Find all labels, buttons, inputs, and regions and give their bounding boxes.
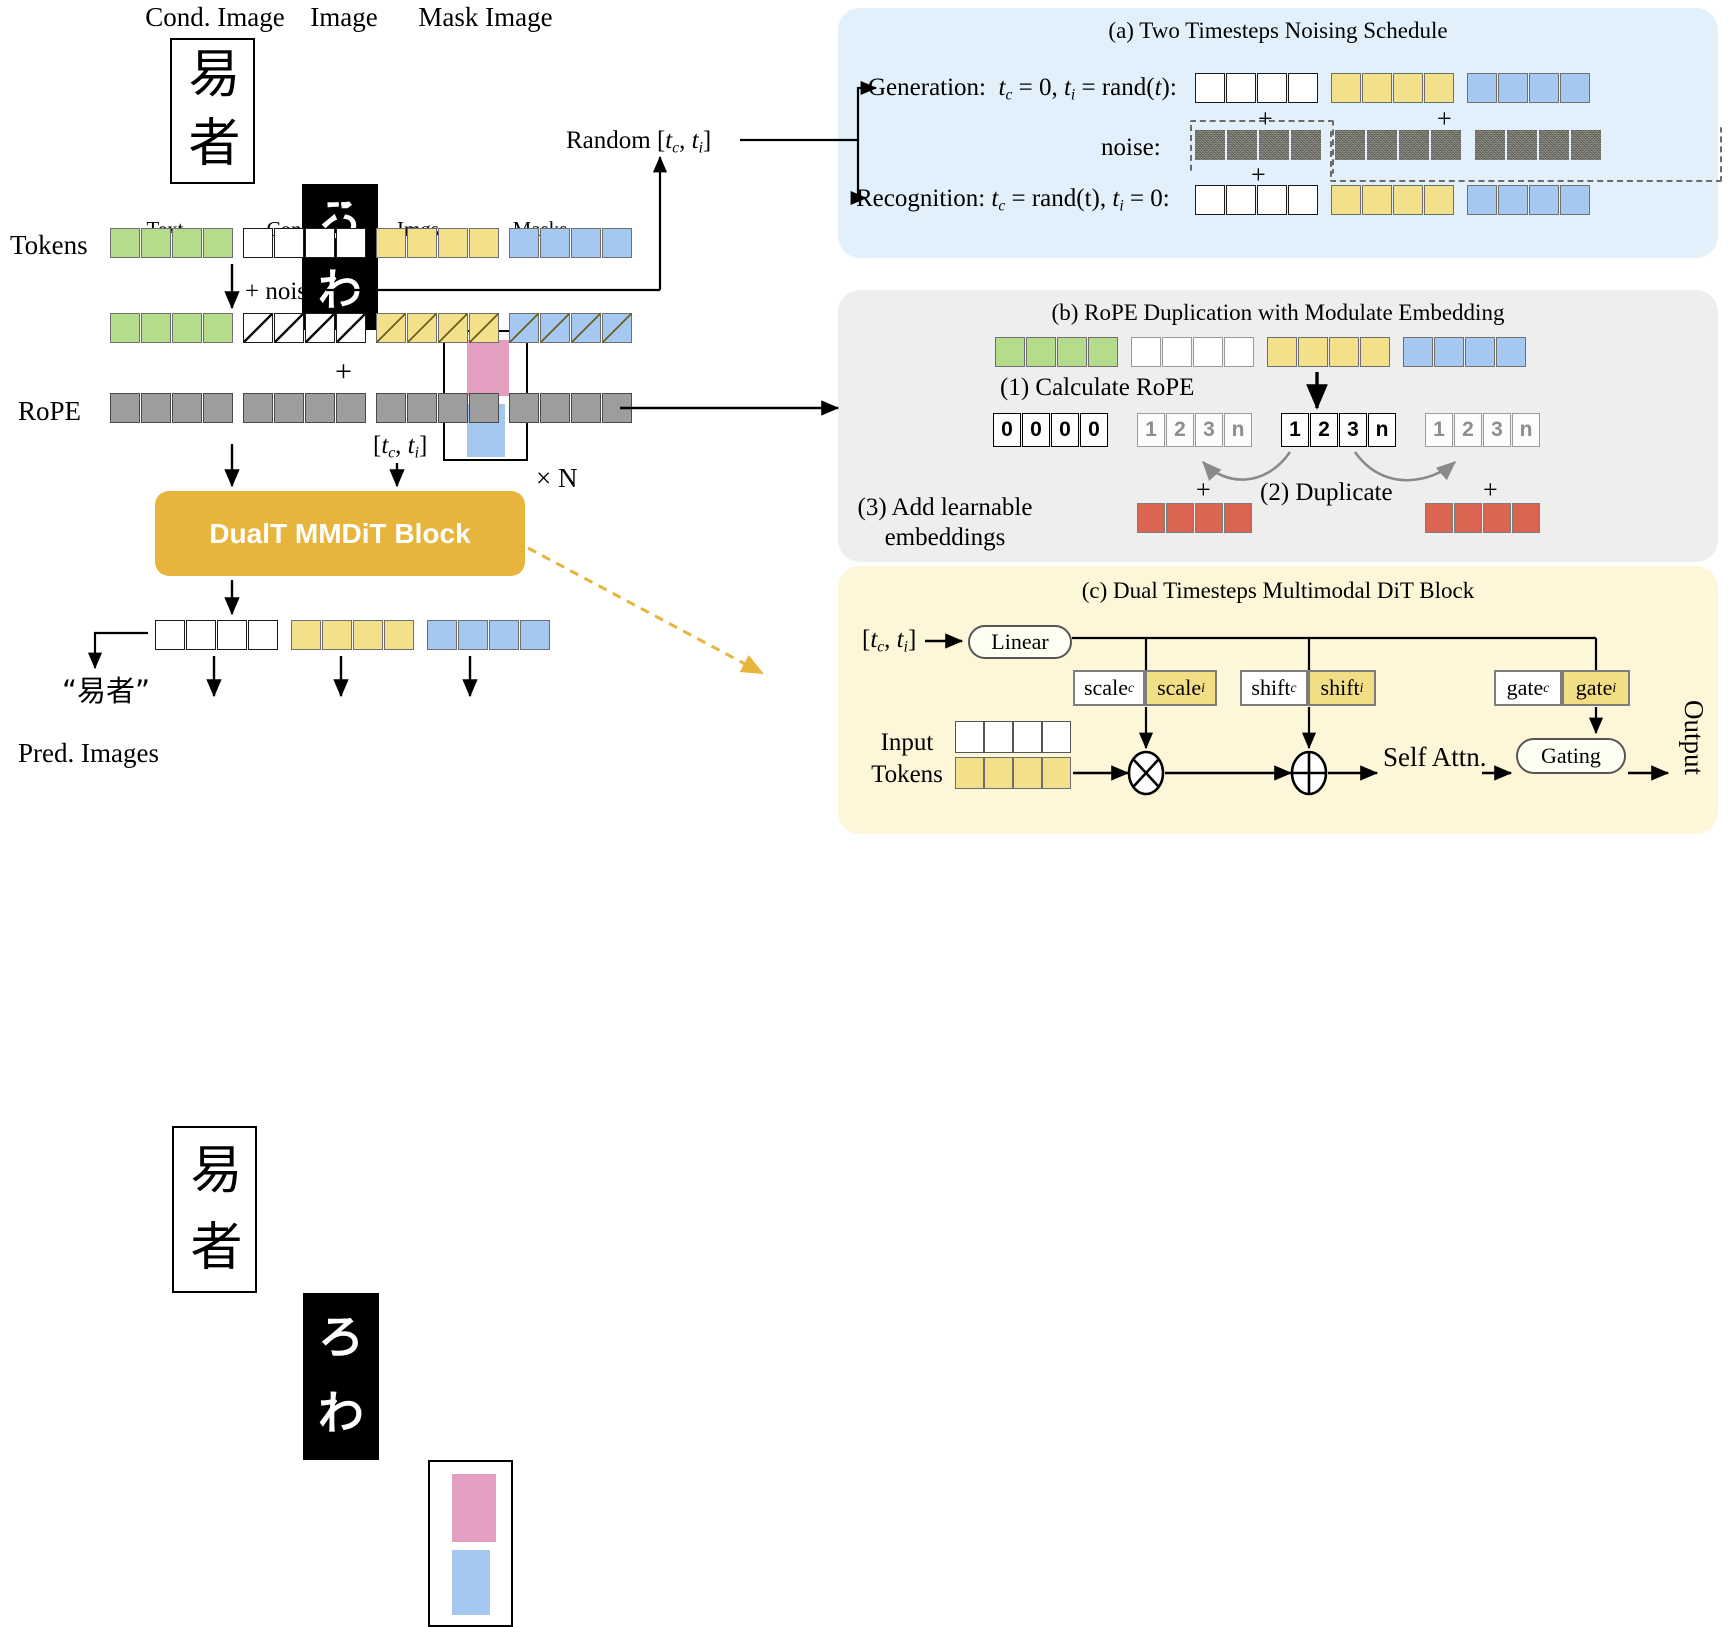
token-cell-img	[469, 228, 499, 258]
pred-mask-image	[428, 1460, 513, 1627]
modbox-scale-c: scalec	[1073, 670, 1145, 706]
arrow-output-to-text	[95, 633, 148, 668]
modbox-gate-c-sub: c	[1543, 680, 1549, 696]
noise-add-label: + noise	[245, 278, 318, 306]
input-token-cell-cond	[984, 721, 1013, 753]
token-cell-img	[1424, 73, 1454, 103]
panel-c-input-tokens-img	[955, 757, 1071, 789]
panel-a-generation-tokens	[1195, 73, 1591, 103]
rope-cell	[376, 393, 406, 423]
rope-index-cell: n	[1512, 413, 1540, 447]
plus-sign-rope: +	[335, 355, 352, 389]
learnable-embedding-cell	[1195, 503, 1223, 533]
noised-token-cell-img	[469, 313, 499, 343]
rope-index-cell: 0	[1051, 413, 1079, 447]
rope-cell	[336, 393, 366, 423]
token-cell-text	[203, 228, 233, 258]
output-token-cell-cond	[217, 620, 247, 650]
panel-b-step2-label: (2) Duplicate	[1260, 479, 1393, 507]
noised-token-cell-mask	[509, 313, 539, 343]
panel-b-rope-group-mask: 1 2 3 n	[1425, 413, 1541, 447]
noised-tokens-row	[110, 313, 633, 343]
panel-b-plus-cond: +	[1196, 475, 1211, 505]
self-attn-label: Self Attn.	[1383, 742, 1487, 773]
token-cell-mask	[1498, 73, 1528, 103]
modbox-shift-c: shiftc	[1240, 670, 1308, 706]
panel-b-rope-group-text: 0 0 0 0	[993, 413, 1109, 447]
repeat-count-label: × N	[536, 463, 577, 494]
modbox-shift-c-label: shift	[1251, 675, 1290, 701]
panel-c-title: (c) Dual Timesteps Multimodal DiT Block	[838, 578, 1718, 604]
output-token-cell-mask	[458, 620, 488, 650]
pred-cond-char-1: 易	[174, 1136, 257, 1206]
panel-a-title: (a) Two Timesteps Noising Schedule	[838, 18, 1718, 44]
token-cell-mask	[1529, 185, 1559, 215]
rope-index-cell: 3	[1483, 413, 1511, 447]
cond-image-char-2: 者	[172, 112, 255, 176]
output-token-cell-img	[384, 620, 414, 650]
output-token-cell-mask	[520, 620, 550, 650]
panel-b-rope-group-img: 1 2 3 n	[1281, 413, 1397, 447]
token-cell-mask	[1560, 73, 1590, 103]
noised-token-cell-img	[407, 313, 437, 343]
panel-a-noise-label: noise:	[1101, 134, 1161, 162]
noised-token-cell-text	[141, 313, 171, 343]
pred-image: ろわ	[303, 1293, 379, 1460]
caption-mask-image: Mask Image	[378, 2, 593, 33]
tokens-row	[110, 228, 633, 258]
rope-cell	[438, 393, 468, 423]
modbox-shift-i-sub: i	[1360, 680, 1364, 696]
panel-b-step3-line2: embeddings	[885, 524, 1006, 551]
token-cell-cond	[243, 228, 273, 258]
noised-token-cell-mask	[602, 313, 632, 343]
token-cell-text	[1057, 337, 1087, 367]
learnable-embedding-cell	[1483, 503, 1511, 533]
rope-cell	[141, 393, 171, 423]
pred-mask-region-blue	[452, 1550, 490, 1615]
panel-b-step3-line1: (3) Add learnable	[858, 494, 1033, 521]
rope-cell	[509, 393, 539, 423]
noised-token-cell-text	[172, 313, 202, 343]
panel-a-generation-label: Generation: tc = 0, ti = rand(t):	[868, 74, 1177, 104]
pred-cond-image: 易 者	[172, 1126, 257, 1293]
rope-cell	[407, 393, 437, 423]
rope-index-cell: 1	[1425, 413, 1453, 447]
rope-index-cell: 0	[1080, 413, 1108, 447]
rope-index-cell: n	[1224, 413, 1252, 447]
token-cell-img	[1267, 337, 1297, 367]
token-cell-cond	[1257, 73, 1287, 103]
token-cell-img	[438, 228, 468, 258]
rope-index-cell: 3	[1339, 413, 1367, 447]
token-cell-mask	[1498, 185, 1528, 215]
noised-token-cell-img	[376, 313, 406, 343]
token-cell-mask	[1434, 337, 1464, 367]
token-cell-cond	[305, 228, 335, 258]
panel-b-step1-label: (1) Calculate RoPE	[1000, 374, 1194, 402]
rope-index-cell: 2	[1454, 413, 1482, 447]
input-token-cell-img	[955, 757, 984, 789]
modbox-gate-i: gatei	[1562, 670, 1630, 706]
token-cell-mask	[540, 228, 570, 258]
token-cell-img	[1362, 185, 1392, 215]
panel-c-input-tokens-cond	[955, 721, 1071, 753]
token-cell-img	[376, 228, 406, 258]
noised-token-cell-text	[203, 313, 233, 343]
output-token-cell-mask	[427, 620, 457, 650]
panel-a-recognition-label: Recognition: tc = rand(t), ti = 0:	[856, 185, 1170, 215]
modbox-scale-i-sub: i	[1201, 680, 1205, 696]
rope-cell	[110, 393, 140, 423]
timestep-input-label: [tc, ti]	[373, 432, 427, 462]
panel-b-title: (b) RoPE Duplication with Modulate Embed…	[838, 300, 1718, 326]
panel-c-input-tokens-label: Input Tokens	[862, 727, 952, 791]
noised-token-cell-text	[110, 313, 140, 343]
panel-c-input-label-line1: Input	[881, 729, 934, 756]
modbox-scale-c-sub: c	[1128, 680, 1134, 696]
rope-index-cell: 1	[1137, 413, 1165, 447]
rope-index-cell: 0	[1022, 413, 1050, 447]
token-cell-cond	[1131, 337, 1161, 367]
panel-a-recognition-tokens	[1195, 185, 1591, 215]
token-cell-img	[1329, 337, 1359, 367]
output-token-cell-img	[353, 620, 383, 650]
rope-row-label: RoPE	[18, 396, 81, 427]
panel-c-timestep-input-label: [tc, ti]	[862, 626, 916, 656]
input-token-cell-cond	[1042, 721, 1071, 753]
modbox-gate-c-label: gate	[1507, 675, 1544, 701]
rope-cell	[274, 393, 304, 423]
token-cell-img	[1331, 73, 1361, 103]
noised-token-cell-mask	[571, 313, 601, 343]
token-cell-img	[1393, 185, 1423, 215]
token-cell-cond	[1257, 185, 1287, 215]
rope-cell	[540, 393, 570, 423]
mask-region-pink	[467, 340, 509, 396]
rope-cell	[203, 393, 233, 423]
token-cell-text	[1088, 337, 1118, 367]
rope-cell	[469, 393, 499, 423]
random-timesteps-label: Random [tc, ti]	[566, 127, 711, 157]
output-token-cell-img	[322, 620, 352, 650]
rope-cell	[571, 393, 601, 423]
token-cell-text	[141, 228, 171, 258]
token-cell-text	[1026, 337, 1056, 367]
token-cell-text	[110, 228, 140, 258]
output-token-cell-cond	[248, 620, 278, 650]
panel-c-input-label-line2: Tokens	[871, 761, 943, 788]
token-cell-cond	[1193, 337, 1223, 367]
rope-index-cell: 3	[1195, 413, 1223, 447]
input-token-cell-img	[984, 757, 1013, 789]
noised-token-cell-cond	[274, 313, 304, 343]
token-cell-mask	[1529, 73, 1559, 103]
output-tokens-row	[155, 620, 551, 650]
token-cell-img	[1424, 185, 1454, 215]
rope-cell	[602, 393, 632, 423]
input-token-cell-img	[1013, 757, 1042, 789]
modbox-scale-i-label: scale	[1157, 675, 1201, 701]
linear-layer-node[interactable]: Linear	[968, 625, 1072, 659]
pred-mask-region-pink	[452, 1474, 496, 1542]
rope-index-cell: n	[1368, 413, 1396, 447]
rope-cell	[305, 393, 335, 423]
token-cell-cond	[1162, 337, 1192, 367]
modbox-scale-c-label: scale	[1084, 675, 1128, 701]
token-cell-mask	[571, 228, 601, 258]
token-cell-mask	[1467, 185, 1497, 215]
rope-index-cell: 2	[1166, 413, 1194, 447]
rope-row	[110, 393, 633, 423]
learnable-embedding-cell	[1454, 503, 1482, 533]
modbox-shift-i: shifti	[1308, 670, 1376, 706]
cond-image-thumbnail: 易 者	[170, 38, 255, 184]
token-cell-img	[407, 228, 437, 258]
input-token-cell-cond	[955, 721, 984, 753]
token-cell-mask	[1560, 185, 1590, 215]
learnable-embedding-cell	[1512, 503, 1540, 533]
token-cell-img	[1362, 73, 1392, 103]
token-cell-text	[172, 228, 202, 258]
output-token-cell-cond	[155, 620, 185, 650]
input-token-cell-cond	[1013, 721, 1042, 753]
dashed-link-block-to-panel-c	[528, 548, 760, 672]
modbox-gate-c: gatec	[1494, 670, 1562, 706]
predicted-text-label: “易者”	[62, 668, 150, 710]
learnable-embedding-cell	[1425, 503, 1453, 533]
panel-b-rope-group-cond: 1 2 3 n	[1137, 413, 1253, 447]
token-cell-mask	[1465, 337, 1495, 367]
panel-a-plus-gen-mask: +	[1437, 104, 1452, 134]
token-cell-text	[995, 337, 1025, 367]
panel-b-learnable-emb-mask	[1425, 503, 1541, 533]
token-cell-img	[1331, 185, 1361, 215]
token-cell-mask	[509, 228, 539, 258]
token-cell-cond	[1226, 73, 1256, 103]
panel-c-output-label: Output	[1678, 700, 1709, 775]
panel-b-step3-label: (3) Add learnable embeddings	[855, 493, 1035, 553]
panel-a-noise-group-img-mask	[1330, 127, 1722, 182]
token-cell-mask	[602, 228, 632, 258]
learnable-embedding-cell	[1224, 503, 1252, 533]
token-cell-cond	[1224, 337, 1254, 367]
token-cell-cond	[1288, 73, 1318, 103]
noised-token-cell-img	[438, 313, 468, 343]
rope-index-cell: 1	[1281, 413, 1309, 447]
modbox-gate-i-label: gate	[1576, 675, 1613, 701]
token-cell-img	[1393, 73, 1423, 103]
token-cell-cond	[274, 228, 304, 258]
noised-token-cell-cond	[243, 313, 273, 343]
tokens-row-label: Tokens	[10, 230, 88, 261]
panel-a-plus-gen-img: +	[1258, 104, 1273, 134]
input-token-cell-img	[1042, 757, 1071, 789]
cond-image-char-1: 易	[172, 43, 255, 107]
token-cell-cond	[1226, 185, 1256, 215]
token-cell-mask	[1496, 337, 1526, 367]
rope-cell	[172, 393, 202, 423]
token-cell-cond	[336, 228, 366, 258]
modbox-shift-c-sub: c	[1291, 680, 1297, 696]
output-token-cell-cond	[186, 620, 216, 650]
learnable-embedding-cell	[1137, 503, 1165, 533]
dualt-mmdit-block[interactable]: DualT MMDiT Block	[155, 491, 525, 576]
noised-token-cell-cond	[305, 313, 335, 343]
pred-images-label: Pred. Images	[18, 738, 159, 769]
pred-image-cursive-glyph: ろわ	[303, 1299, 379, 1451]
panel-b-learnable-emb-cond	[1137, 503, 1253, 533]
rope-cell	[243, 393, 273, 423]
noised-token-cell-mask	[540, 313, 570, 343]
panel-b-token-row	[995, 337, 1527, 367]
token-cell-img	[1298, 337, 1328, 367]
token-cell-mask	[1467, 73, 1497, 103]
rope-index-cell: 2	[1310, 413, 1338, 447]
output-token-cell-img	[291, 620, 321, 650]
token-cell-cond	[1288, 185, 1318, 215]
pred-cond-char-2: 者	[174, 1213, 257, 1283]
token-cell-img	[1360, 337, 1390, 367]
panel-b-plus-mask: +	[1483, 475, 1498, 505]
modbox-gate-i-sub: i	[1612, 680, 1616, 696]
learnable-embedding-cell	[1166, 503, 1194, 533]
noised-token-cell-cond	[336, 313, 366, 343]
modbox-scale-i: scalei	[1145, 670, 1217, 706]
token-cell-mask	[1403, 337, 1433, 367]
token-cell-cond	[1195, 185, 1225, 215]
gating-node[interactable]: Gating	[1516, 738, 1626, 774]
output-token-cell-mask	[489, 620, 519, 650]
token-cell-cond	[1195, 73, 1225, 103]
rope-index-cell: 0	[993, 413, 1021, 447]
modbox-shift-i-label: shift	[1321, 675, 1360, 701]
